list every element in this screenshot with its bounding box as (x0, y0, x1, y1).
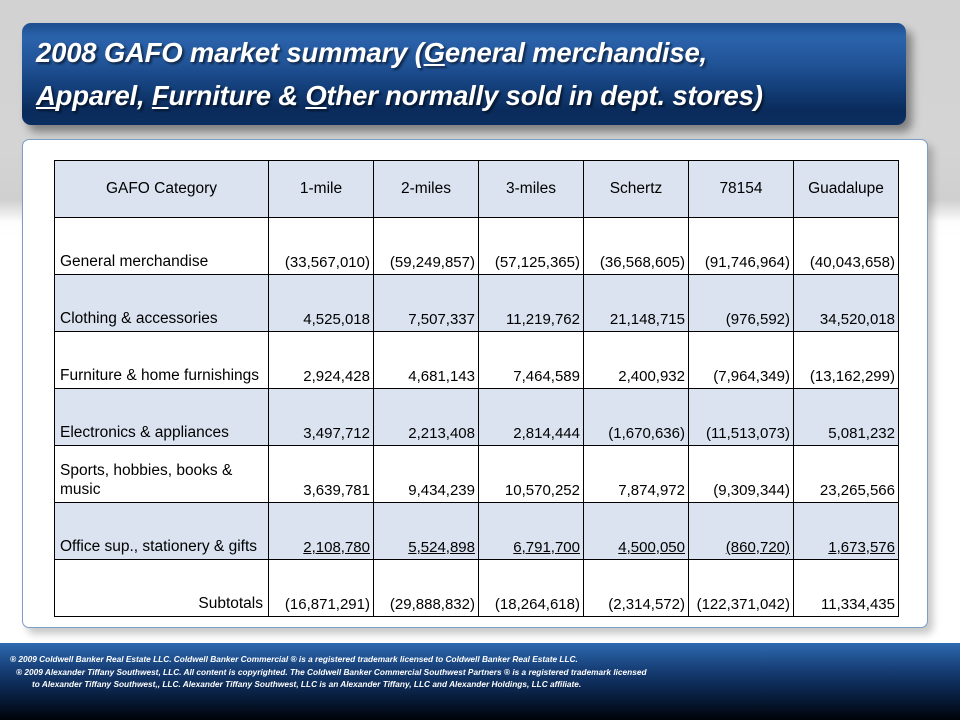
table-cell-value: 3,497,712 (269, 389, 374, 446)
table-cell-value: (976,592) (689, 275, 794, 332)
title-line-2: Apparel, Furniture & Other normally sold… (36, 74, 898, 117)
table-cell-value: 2,108,780 (269, 503, 374, 560)
table-cell-value: (59,249,857) (374, 218, 479, 275)
column-header-0: GAFO Category (55, 161, 269, 218)
title-line-1-post: eneral merchandise, (445, 37, 707, 68)
table-cell-value: (860,720) (689, 503, 794, 560)
table-row: General merchandise(33,567,010)(59,249,8… (55, 218, 899, 275)
column-header-6: Guadalupe (794, 161, 899, 218)
title-line-1-pre: 2008 GAFO market summary ( (36, 37, 424, 68)
title-acronym-o: O (305, 80, 326, 111)
table-cell-value: (36,568,605) (584, 218, 689, 275)
table-cell-value: 21,148,715 (584, 275, 689, 332)
table-cell-value: (91,746,964) (689, 218, 794, 275)
table-row: Sports, hobbies, books & music3,639,7819… (55, 446, 899, 503)
table-cell-value: (2,314,572) (584, 560, 689, 617)
table-cell-value: (9,309,344) (689, 446, 794, 503)
table-body: General merchandise(33,567,010)(59,249,8… (55, 218, 899, 617)
table-cell-value: 5,524,898 (374, 503, 479, 560)
table-cell-value: (29,888,832) (374, 560, 479, 617)
table-cell-value: 11,334,435 (794, 560, 899, 617)
footer-legal-line-1: ® 2009 Coldwell Banker Real Estate LLC. … (10, 653, 710, 666)
table-cell-value: 7,507,337 (374, 275, 479, 332)
row-category-label: Office sup., stationery & gifts (55, 503, 269, 560)
footer-legal-line-3: to Alexander Tiffany Southwest,, LLC. Al… (10, 678, 710, 691)
table-cell-value: 2,924,428 (269, 332, 374, 389)
table-cell-value: 7,464,589 (479, 332, 584, 389)
table-header: GAFO Category1-mile2-miles3-milesSchertz… (55, 161, 899, 218)
content-card: GAFO Category1-mile2-miles3-milesSchertz… (22, 139, 928, 628)
row-label-subtotals: Subtotals (55, 560, 269, 617)
column-header-3: 3-miles (479, 161, 584, 218)
table-cell-value: 2,213,408 (374, 389, 479, 446)
table-cell-value: (18,264,618) (479, 560, 584, 617)
table-cell-value: 34,520,018 (794, 275, 899, 332)
footer-legal-text: ® 2009 Coldwell Banker Real Estate LLC. … (10, 653, 710, 691)
table-cell-value: (11,513,073) (689, 389, 794, 446)
table-cell-value: 23,265,566 (794, 446, 899, 503)
table-cell-value: 7,874,972 (584, 446, 689, 503)
table-cell-value: 4,525,018 (269, 275, 374, 332)
table-header-row: GAFO Category1-mile2-miles3-milesSchertz… (55, 161, 899, 218)
column-header-4: Schertz (584, 161, 689, 218)
table-cell-value: 2,400,932 (584, 332, 689, 389)
title-acronym-g: G (424, 37, 445, 68)
table-row: Office sup., stationery & gifts2,108,780… (55, 503, 899, 560)
title-acronym-f: F (152, 80, 169, 111)
row-category-label: Sports, hobbies, books & music (55, 446, 269, 503)
table-cell-value: 11,219,762 (479, 275, 584, 332)
footer-bar: ® 2009 Coldwell Banker Real Estate LLC. … (0, 643, 960, 720)
table-cell-value: (57,125,365) (479, 218, 584, 275)
column-header-2: 2-miles (374, 161, 479, 218)
table-cell-value: 3,639,781 (269, 446, 374, 503)
table-cell-value: 1,673,576 (794, 503, 899, 560)
row-category-label: Furniture & home furnishings (55, 332, 269, 389)
title-banner: 2008 GAFO market summary (General mercha… (22, 23, 906, 125)
row-category-label: Electronics & appliances (55, 389, 269, 446)
table-cell-value: 5,081,232 (794, 389, 899, 446)
title-line-2-mid-1: pparel, (56, 80, 152, 111)
table-row: Furniture & home furnishings2,924,4284,6… (55, 332, 899, 389)
row-category-label: Clothing & accessories (55, 275, 269, 332)
table-row: Electronics & appliances3,497,7122,213,4… (55, 389, 899, 446)
slide-canvas: 2008 GAFO market summary (General mercha… (0, 0, 960, 720)
gafo-market-summary-table: GAFO Category1-mile2-miles3-milesSchertz… (54, 160, 899, 617)
title-line-2-mid-2: urniture & (169, 80, 306, 111)
title-acronym-a: A (36, 80, 56, 111)
title-line-1: 2008 GAFO market summary (General mercha… (36, 31, 898, 74)
table-cell-value: (122,371,042) (689, 560, 794, 617)
title-line-2-post: ther normally sold in dept. stores) (327, 80, 763, 111)
table-cell-value: (7,964,349) (689, 332, 794, 389)
row-category-label: General merchandise (55, 218, 269, 275)
column-header-5: 78154 (689, 161, 794, 218)
table-cell-value: (40,043,658) (794, 218, 899, 275)
table-cell-value: (1,670,636) (584, 389, 689, 446)
table-cell-value: (13,162,299) (794, 332, 899, 389)
table-cell-value: (16,871,291) (269, 560, 374, 617)
table-cell-value: 4,500,050 (584, 503, 689, 560)
table-cell-value: 10,570,252 (479, 446, 584, 503)
column-header-1: 1-mile (269, 161, 374, 218)
table-cell-value: 6,791,700 (479, 503, 584, 560)
page-title: 2008 GAFO market summary (General mercha… (36, 31, 898, 117)
table-cell-value: 4,681,143 (374, 332, 479, 389)
table-cell-value: (33,567,010) (269, 218, 374, 275)
table-row: Subtotals(16,871,291)(29,888,832)(18,264… (55, 560, 899, 617)
table-cell-value: 9,434,239 (374, 446, 479, 503)
table-cell-value: 2,814,444 (479, 389, 584, 446)
footer-legal-line-2: ® 2009 Alexander Tiffany Southwest, LLC.… (10, 666, 710, 679)
table-row: Clothing & accessories4,525,0187,507,337… (55, 275, 899, 332)
